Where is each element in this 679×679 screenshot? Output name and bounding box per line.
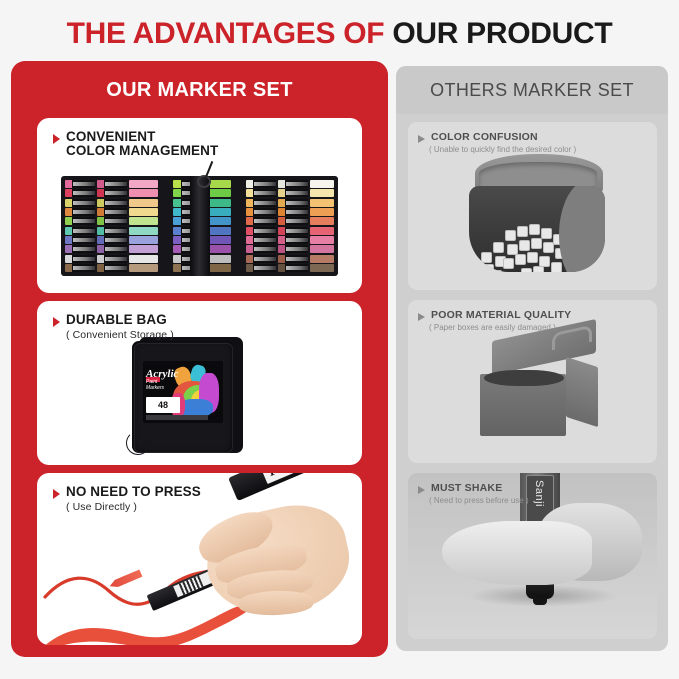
problem-label-color-confusion: COLOR CONFUSION ( Unable to quickly find… <box>418 131 576 154</box>
feature-label-no-press: NO NEED TO PRESS ( Use Directly ) <box>53 485 201 513</box>
feature-title-line2: COLOR MANAGEMENT <box>66 144 218 158</box>
feature-title: DURABLE BAG <box>66 313 167 327</box>
open-marker-case-image <box>61 176 338 276</box>
our-marker-set-header: OUR MARKER SET <box>11 73 388 107</box>
others-marker-set-column: OTHERS MARKER SET <box>396 66 668 651</box>
infographic-page: THE ADVANTAGES OF OUR PRODUCT OUR MARKER… <box>0 0 679 679</box>
problem-label-poor-material: POOR MATERIAL QUALITY ( Paper boxes are … <box>418 309 571 332</box>
feature-card-color-management: CONVENIENT COLOR MANAGEMENT <box>37 118 362 293</box>
feature-label-color-management: CONVENIENT COLOR MANAGEMENT <box>53 130 218 158</box>
our-marker-set-column: OUR MARKER SET <box>11 61 388 657</box>
bag-strap <box>126 431 150 455</box>
brand-label: Acrylic Paint Markers <box>146 369 176 391</box>
feature-title: NO NEED TO PRESS <box>66 485 201 499</box>
marker-barrel-upper: Paint <box>228 473 362 501</box>
count-badge: 48 <box>146 397 180 413</box>
marker-bag-image: Acrylic Paint Markers 48 <box>132 335 245 455</box>
others-marker-set-header: OTHERS MARKER SET <box>396 66 668 114</box>
feature-card-no-press: Paint NO NEED TO PRESS ( Use Directly ) <box>37 473 362 645</box>
feature-subtitle: ( Convenient Storage ) <box>66 329 174 341</box>
page-title-red: THE ADVANTAGES OF <box>67 17 385 50</box>
feature-card-durable-bag: Acrylic Paint Markers 48 DURABLE BAG ( C… <box>37 301 362 465</box>
triangle-bullet-icon <box>53 317 60 327</box>
triangle-bullet-icon <box>53 489 60 499</box>
problem-title: COLOR CONFUSION <box>431 131 538 143</box>
jumbled-marker-tips <box>477 222 597 272</box>
triangle-bullet-icon <box>418 313 425 321</box>
problem-subtitle: ( Need to press before use ) <box>429 496 529 505</box>
problem-card-must-shake: Sanji MUST SHAKE ( Need to press before … <box>408 473 657 639</box>
thumb <box>442 521 592 585</box>
problem-card-poor-material: POOR MATERIAL QUALITY ( Paper boxes are … <box>408 300 657 463</box>
problem-title: POOR MATERIAL QUALITY <box>431 309 571 321</box>
grey-box-image <box>474 330 606 440</box>
page-title-black: OUR PRODUCT <box>392 17 612 50</box>
feature-title-line1: CONVENIENT <box>66 129 156 144</box>
problem-label-must-shake: MUST SHAKE ( Need to press before use ) <box>418 482 529 505</box>
triangle-bullet-icon <box>53 134 60 144</box>
case-pull-ring <box>197 175 211 188</box>
problem-title: MUST SHAKE <box>431 482 502 494</box>
grey-bag-image <box>463 154 613 274</box>
problem-subtitle: ( Paper boxes are easily damaged ) <box>429 323 571 332</box>
callout-line <box>205 161 213 177</box>
problem-card-color-confusion: COLOR CONFUSION ( Unable to quickly find… <box>408 122 657 290</box>
triangle-bullet-icon <box>418 486 425 494</box>
feature-subtitle: ( Use Directly ) <box>66 501 201 513</box>
marker-brand-text: Sanji <box>533 480 545 507</box>
feature-label-durable-bag: DURABLE BAG ( Convenient Storage ) <box>53 313 174 341</box>
triangle-bullet-icon <box>418 135 425 143</box>
problem-subtitle: ( Unable to quickly find the desired col… <box>429 145 576 154</box>
brand-script-text: Acrylic <box>146 369 176 379</box>
page-title: THE ADVANTAGES OF OUR PRODUCT <box>0 17 679 51</box>
brand-sub-text: Paint Markers <box>146 379 176 391</box>
